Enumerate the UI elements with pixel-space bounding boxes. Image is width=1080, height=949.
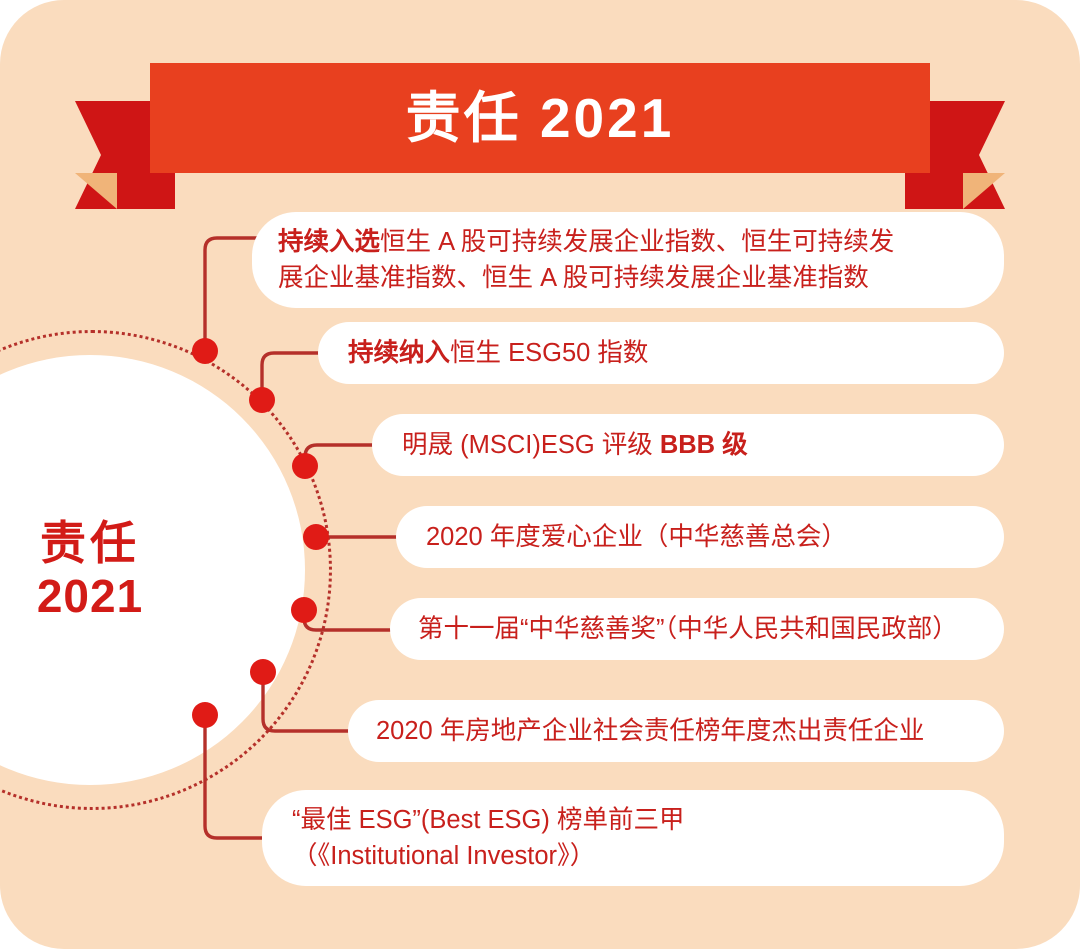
card-1-normal-text: 恒生 A 股可持续发展企业指数、恒生可持续发 bbox=[380, 228, 894, 256]
card-3-line-1: 明晟 (MSCI)ESG 评级 BBB 级 bbox=[402, 427, 974, 463]
achievement-card-5[interactable]: 第十一届“中华慈善奖”（中华人民共和国民政部） bbox=[390, 598, 1004, 660]
achievement-card-2[interactable]: 持续纳入恒生 ESG50 指数 bbox=[318, 322, 1004, 384]
achievement-card-4[interactable]: 2020 年度爱心企业（中华慈善总会） bbox=[396, 506, 1004, 568]
card-4-line-1: 2020 年度爱心企业（中华慈善总会） bbox=[426, 519, 974, 555]
hub-label-line2: 2021 bbox=[37, 570, 143, 623]
card-1-line-1: 持续入选恒生 A 股可持续发展企业指数、恒生可持续发 bbox=[278, 224, 978, 260]
card-7-line-2: （《Institutional Investor》） bbox=[292, 838, 974, 874]
card-2-bold-text: 持续纳入 bbox=[348, 339, 450, 367]
card-1-bold-text: 持续入选 bbox=[278, 228, 380, 256]
achievement-card-7[interactable]: “最佳 ESG”(Best ESG) 榜单前三甲 （《Institutional… bbox=[262, 790, 1004, 886]
card-3-bold-text: BBB 级 bbox=[660, 431, 748, 459]
ribbon-banner: 责任 2021 bbox=[75, 63, 1005, 173]
card-6-line-1: 2020 年房地产企业社会责任榜年度杰出责任企业 bbox=[376, 713, 976, 749]
ribbon-body: 责任 2021 bbox=[150, 63, 930, 173]
achievement-card-3[interactable]: 明晟 (MSCI)ESG 评级 BBB 级 bbox=[372, 414, 1004, 476]
card-3-normal-text: 明晟 (MSCI)ESG 评级 bbox=[402, 431, 660, 459]
card-2-normal-text: 恒生 ESG50 指数 bbox=[450, 339, 648, 367]
achievement-card-1[interactable]: 持续入选恒生 A 股可持续发展企业指数、恒生可持续发 展企业基准指数、恒生 A … bbox=[252, 212, 1004, 308]
card-2-line-1: 持续纳入恒生 ESG50 指数 bbox=[348, 335, 974, 371]
card-1-line-2: 展企业基准指数、恒生 A 股可持续发展企业基准指数 bbox=[278, 260, 978, 296]
card-7-line-1: “最佳 ESG”(Best ESG) 榜单前三甲 bbox=[292, 802, 974, 838]
achievement-card-6[interactable]: 2020 年房地产企业社会责任榜年度杰出责任企业 bbox=[348, 700, 1004, 762]
card-5-line-1: 第十一届“中华慈善奖”（中华人民共和国民政部） bbox=[418, 611, 976, 647]
banner-title: 责任 2021 bbox=[406, 91, 675, 146]
infographic-poster: 责任 2021 责任 2021 bbox=[0, 0, 1080, 949]
hub-label-line1: 责任 bbox=[40, 517, 140, 570]
